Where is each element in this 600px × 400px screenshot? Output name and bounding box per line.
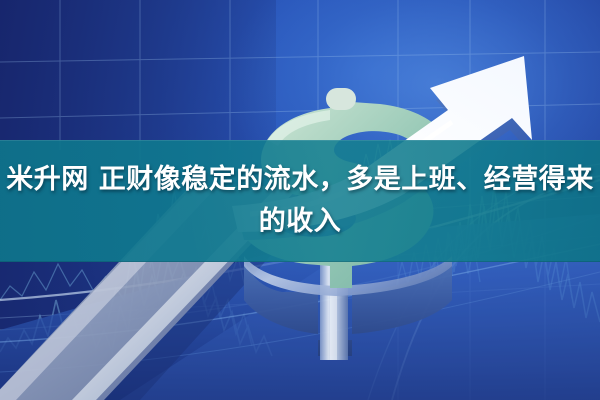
banner-caption: 米升网 正财像稳定的流水，多是上班、经营得来 的收入 xyxy=(0,140,600,262)
caption-line-1: 米升网 正财像稳定的流水，多是上班、经营得来 xyxy=(6,160,593,200)
caption-line-2: 的收入 xyxy=(259,202,342,242)
finance-banner: 米升网 正财像稳定的流水，多是上班、经营得来 的收入 xyxy=(0,0,600,400)
